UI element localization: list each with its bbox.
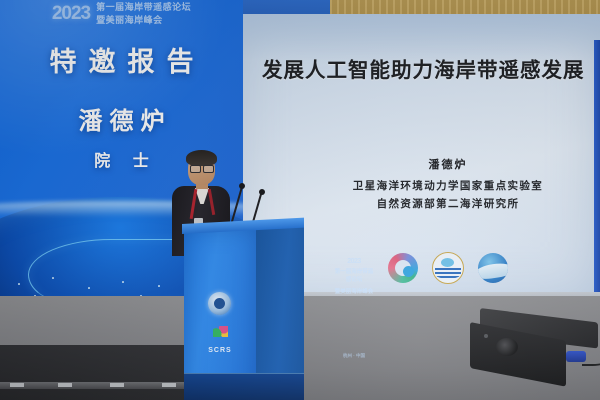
speaker-hair [186, 150, 217, 166]
podium-side-branding: 2023 第一届海岸带遥感论坛 暨美丽海岸峰会 [334, 258, 374, 296]
wave-emblem-logo [432, 252, 464, 284]
podium-side-year: 2023 [334, 258, 374, 265]
backdrop-header-text: 第一届海岸带遥感论坛 暨美丽海岸峰会 [96, 1, 191, 27]
institute-seal [208, 292, 231, 315]
ocean-circle-logo [478, 253, 508, 283]
backdrop-year: 2023 [52, 3, 90, 25]
mic-capsule [239, 183, 245, 189]
slide-logo-row [266, 252, 600, 284]
podium-side-line2: 暨美丽海岸峰会 [334, 288, 374, 296]
monitor-driver [496, 338, 518, 356]
screen-glare [236, 14, 600, 60]
backdrop-header: 2023 第一届海岸带遥感论坛 暨美丽海岸峰会 [0, 0, 243, 30]
slide-affiliation-line2: 自然资源部第二海洋研究所 [266, 195, 600, 213]
glasses-icon [190, 165, 214, 171]
monitor-handle [484, 334, 488, 338]
podium-side-footer: 杭州 · 中国 [336, 352, 372, 359]
ring-multicolor-logo [388, 253, 418, 283]
backdrop-title: 特邀报告 [0, 40, 243, 79]
slide-speaker-name: 潘德炉 [266, 156, 600, 172]
screen-right-trim [594, 40, 600, 302]
scrs-mark-icon [213, 326, 228, 337]
slide-affiliation: 卫星海洋环境动力学国家重点实验室 自然资源部第二海洋研究所 [266, 177, 600, 214]
slide-title: 发展人工智能助力海岸带遥感发展 [262, 58, 574, 84]
speaker-podium: 2023 第一届海岸带遥感论坛 暨美丽海岸峰会 杭州 · 中国 SCRS [184, 224, 304, 400]
slide-affiliation-line1: 卫星海洋环境动力学国家重点实验室 [266, 177, 600, 195]
monitor-cable [582, 356, 600, 366]
backdrop-header-line1: 第一届海岸带遥感论坛 [96, 2, 191, 12]
backdrop-header-line2: 暨美丽海岸峰会 [96, 15, 163, 25]
scrs-logo: SCRS [202, 326, 238, 357]
backdrop-speaker-name: 潘德炉 [0, 101, 243, 136]
conference-stage-photo: 发展人工智能助力海岸带遥感发展 潘德炉 卫星海洋环境动力学国家重点实验室 自然资… [0, 0, 600, 400]
podium-earth-strip [184, 373, 304, 400]
scrs-wordmark: SCRS [208, 347, 231, 354]
podium-side-line1: 第一届海岸带遥感论坛 [334, 268, 374, 285]
mic-capsule [259, 189, 265, 195]
stage-monitor-speaker [470, 308, 598, 374]
